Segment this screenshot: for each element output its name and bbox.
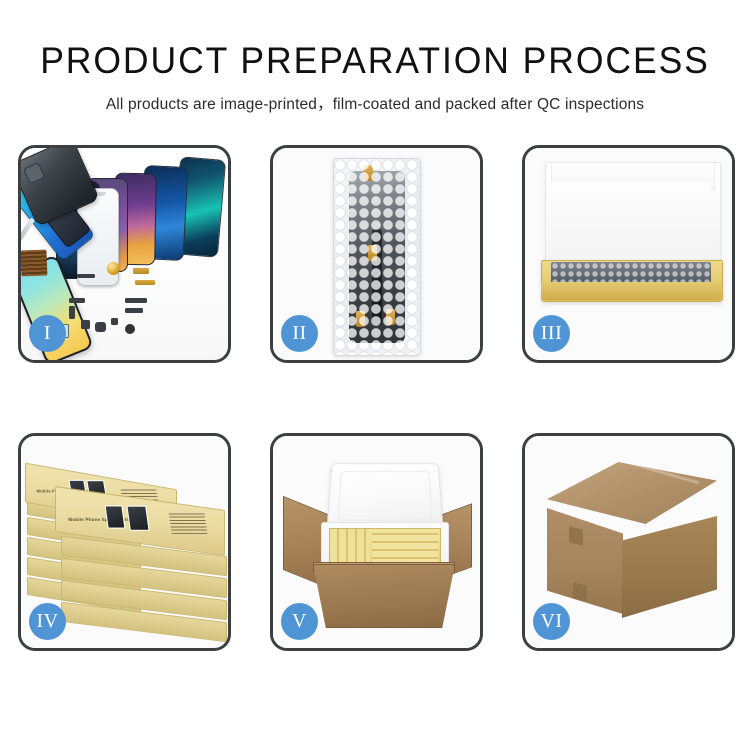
step-panel-2: II (270, 145, 483, 363)
step-badge-6: VI (533, 603, 570, 640)
part-ribbon-b (125, 308, 143, 313)
process-steps-grid: I II (18, 145, 734, 669)
page-subtitle: All products are image-printed，film-coat… (0, 92, 750, 114)
part-connector-a (69, 298, 85, 303)
repair-tweezers-icon (21, 218, 35, 249)
box-text-block-front (169, 512, 208, 534)
step-badge-3: III (533, 315, 570, 352)
box-screen-image-front-1 (104, 505, 125, 528)
part-flex-cable-a (133, 268, 149, 274)
step-badge-4: IV (29, 603, 66, 640)
part-earpiece-strip (77, 274, 95, 278)
bubble-wrap-bag (333, 158, 421, 356)
carton-body (313, 564, 455, 628)
step-badge-5: V (281, 603, 318, 640)
bubble-texture (334, 159, 420, 355)
step-panel-4: Mobile Phone Spare Parts Mobile Phone Sp… (18, 433, 231, 651)
step-badge-1: I (29, 315, 66, 352)
bubble-wrapped-contents (551, 262, 711, 284)
part-connector-b (69, 306, 75, 319)
part-vibrator (125, 324, 135, 334)
header: PRODUCT PREPARATION PROCESS All products… (0, 0, 750, 114)
step-badge-2: II (281, 315, 318, 352)
box-screen-image-front-2 (126, 506, 149, 531)
carton-tape-upper (569, 526, 583, 545)
part-flex-cable-b (135, 280, 155, 285)
carton-tape-lower (573, 582, 587, 601)
carton-side-face (622, 516, 717, 618)
page-title: PRODUCT PREPARATION PROCESS (15, 40, 735, 82)
step-panel-1: I (18, 145, 231, 363)
carton-top-face (547, 462, 717, 524)
part-camera-module (95, 322, 106, 332)
box-lid-inner-face (551, 182, 711, 262)
product-preparation-infographic: PRODUCT PREPARATION PROCESS All products… (0, 0, 750, 750)
yellow-boxes-horizontal (372, 529, 438, 565)
step-panel-6: VI (522, 433, 735, 651)
part-button (81, 320, 90, 329)
step-panel-3: III (522, 145, 735, 363)
part-speaker-gold (107, 262, 120, 275)
step-panel-5: V (270, 433, 483, 651)
part-screw-holder (111, 318, 118, 325)
kraft-box-front-wall (541, 282, 721, 300)
part-ribbon-a (125, 298, 147, 303)
part-logic-board (21, 250, 47, 277)
yellow-boxes-vertical (330, 529, 370, 565)
